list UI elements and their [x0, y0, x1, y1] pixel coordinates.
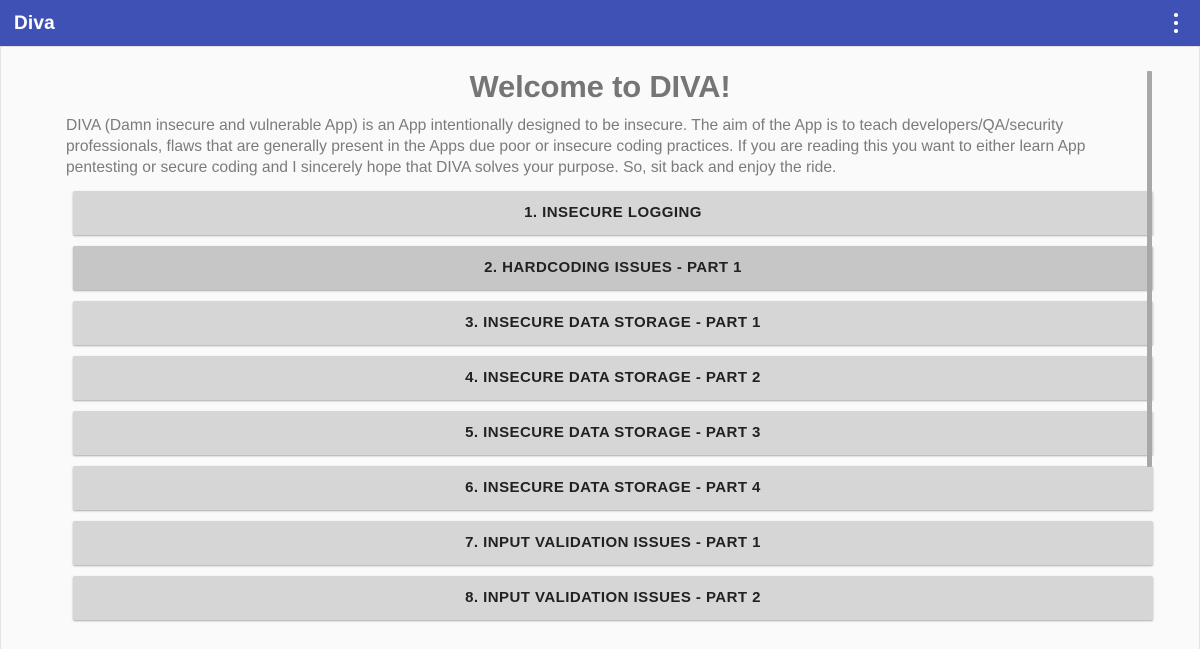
challenge-button-3[interactable]: 3. INSECURE DATA STORAGE - PART 1 — [73, 301, 1153, 345]
challenge-button-2[interactable]: 2. HARDCODING ISSUES - PART 1 — [73, 246, 1153, 290]
challenge-button-8[interactable]: 8. INPUT VALIDATION ISSUES - PART 2 — [73, 576, 1153, 620]
more-dot-1 — [1174, 13, 1178, 17]
content-surface: Welcome to DIVA! DIVA (Damn insecure and… — [0, 46, 1200, 649]
app-title: Diva — [14, 14, 55, 33]
page-title: Welcome to DIVA! — [1, 47, 1199, 104]
challenge-button-6[interactable]: 6. INSECURE DATA STORAGE - PART 4 — [73, 466, 1153, 510]
challenge-button-5[interactable]: 5. INSECURE DATA STORAGE - PART 3 — [73, 411, 1153, 455]
more-dot-2 — [1174, 21, 1178, 25]
more-vertical-icon[interactable] — [1158, 0, 1194, 46]
scrollbar-thumb[interactable] — [1147, 71, 1152, 467]
vertical-scrollbar[interactable] — [1147, 47, 1153, 649]
app-screen: Diva Welcome to DIVA! DIVA (Damn insecur… — [0, 0, 1200, 649]
challenge-button-1[interactable]: 1. INSECURE LOGGING — [73, 191, 1153, 235]
app-bar: Diva — [0, 0, 1200, 46]
challenge-button-7[interactable]: 7. INPUT VALIDATION ISSUES - PART 1 — [73, 521, 1153, 565]
more-dot-3 — [1174, 29, 1178, 33]
intro-paragraph: DIVA (Damn insecure and vulnerable App) … — [1, 104, 1199, 178]
scrollable-content[interactable]: Welcome to DIVA! DIVA (Damn insecure and… — [1, 47, 1199, 649]
challenge-button-list: 1. INSECURE LOGGING2. HARDCODING ISSUES … — [1, 178, 1199, 620]
challenge-button-4[interactable]: 4. INSECURE DATA STORAGE - PART 2 — [73, 356, 1153, 400]
